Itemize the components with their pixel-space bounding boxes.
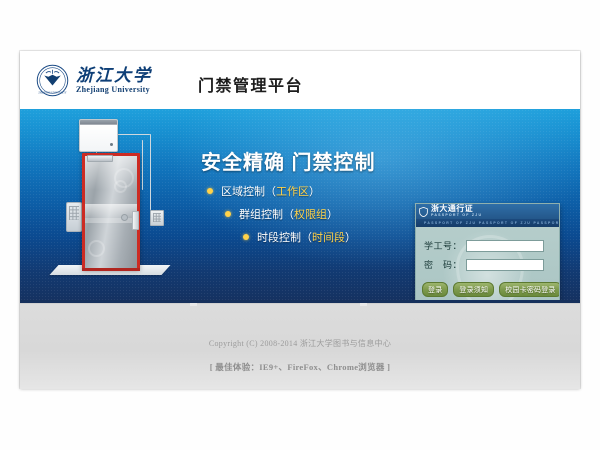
gear-icon-small [114,180,127,193]
bullet-icon [243,234,249,240]
login-panel-header: 浙大通行证 PASSPORT OF ZJU [416,204,559,219]
controller-led-icon [110,143,113,146]
password-input[interactable] [466,259,544,271]
feature-tail: ） [345,229,356,245]
logo-text: 浙江大学 Zhejiang University [76,67,152,94]
logo-chinese-name: 浙江大学 [76,67,152,84]
footer-browser-hint: [ 最佳体验：IE9+、FireFox、Chrome浏览器 ] [20,361,580,373]
keypad-reader-icon [66,202,82,232]
feature-item-area: 区域控制（ 工作区 ） [207,183,356,199]
site-header: ZHEJIANG UNIVERSITY 浙江大学 Zhejiang Univer… [20,51,580,109]
hero-banner: 安全精确 门禁控制 区域控制（ 工作区 ） 群组控制（ 权限组 ） 时段控制（ [20,109,580,303]
keypad-grid [69,206,79,220]
bullet-icon [225,211,231,217]
username-label: 学工号： [424,239,466,252]
password-field-row: 密 码： [424,258,544,271]
svg-text:ZHEJIANG UNIVERSITY: ZHEJIANG UNIVERSITY [38,91,66,94]
username-field-row: 学工号： [424,239,544,252]
feature-item-group: 群组控制（ 权限组 ） [225,206,356,222]
campus-card-login-button[interactable]: 校园卡密码登录 [499,282,560,297]
footer-notch [360,303,367,306]
door-leaf [85,156,137,269]
page-root: ZHEJIANG UNIVERSITY 浙江大学 Zhejiang Univer… [0,0,600,450]
wire-inner [142,140,143,190]
footer-copyright: Copyright (C) 2008-2014 浙江大学图书与信息中心 [20,338,580,349]
feature-text: 区域控制（ [221,183,276,199]
content-card: ZHEJIANG UNIVERSITY 浙江大学 Zhejiang Univer… [20,51,580,388]
feature-highlight: 工作区 [276,183,309,199]
login-title-text: 浙大通行证 PASSPORT OF ZJU [431,205,482,218]
zju-seal-icon: ZHEJIANG UNIVERSITY [36,64,69,97]
access-controller-icon [79,119,118,152]
feature-text: 时段控制（ [257,229,312,245]
login-notice-button[interactable]: 登录须知 [453,282,494,297]
login-title-cn: 浙大通行证 [431,205,482,213]
feature-highlight: 权限组 [294,206,327,222]
door-handle-icon [132,211,139,230]
access-control-illustration [42,113,212,299]
door-highlight-band [85,204,137,218]
feature-item-schedule: 时段控制（ 时间段 ） [243,229,356,245]
door-threshold [82,268,140,271]
university-logo[interactable]: ZHEJIANG UNIVERSITY 浙江大学 Zhejiang Univer… [36,64,152,97]
wire-top [116,134,150,135]
login-form: 学工号： 密 码： 登录 登录须知 校园卡密码登录 [416,227,559,303]
login-panel: 浙大通行证 PASSPORT OF ZJU PASSPORT OF ZJU PA… [415,203,560,303]
card-reader-icon [150,210,164,226]
login-button-row: 登录 登录须知 校园卡密码登录 [422,282,560,297]
login-pattern-strip: PASSPORT OF ZJU PASSPORT OF ZJU PASSPORT… [416,219,559,227]
username-input[interactable] [466,240,544,252]
feature-tail: ） [327,206,338,222]
wire-right [150,134,151,210]
login-title-en: PASSPORT OF ZJU [431,214,482,218]
password-label: 密 码： [424,258,466,271]
door-highlight-band-2 [85,218,137,223]
security-door-icon [82,153,140,269]
door-lock-icon [121,214,128,221]
login-button[interactable]: 登录 [422,282,448,297]
page-title: 门禁管理平台 [198,72,303,96]
logo-english-name: Zhejiang University [76,86,152,94]
shield-icon [419,207,428,217]
feature-list: 区域控制（ 工作区 ） 群组控制（ 权限组 ） 时段控制（ 时间段 ） [207,183,356,252]
feature-tail: ） [309,183,320,199]
gear-icon-lower [88,240,105,257]
footer-notch [190,303,197,306]
door-closer-icon [87,155,113,162]
feature-text: 群组控制（ [239,206,294,222]
site-footer: Copyright (C) 2008-2014 浙江大学图书与信息中心 [ 最佳… [20,303,580,389]
card-reader-grid [153,213,161,222]
banner-headline: 安全精确 门禁控制 [201,146,376,175]
login-strip-text: PASSPORT OF ZJU PASSPORT OF ZJU PASSPORT… [416,221,559,225]
bullet-icon [207,188,213,194]
feature-highlight: 时间段 [312,229,345,245]
